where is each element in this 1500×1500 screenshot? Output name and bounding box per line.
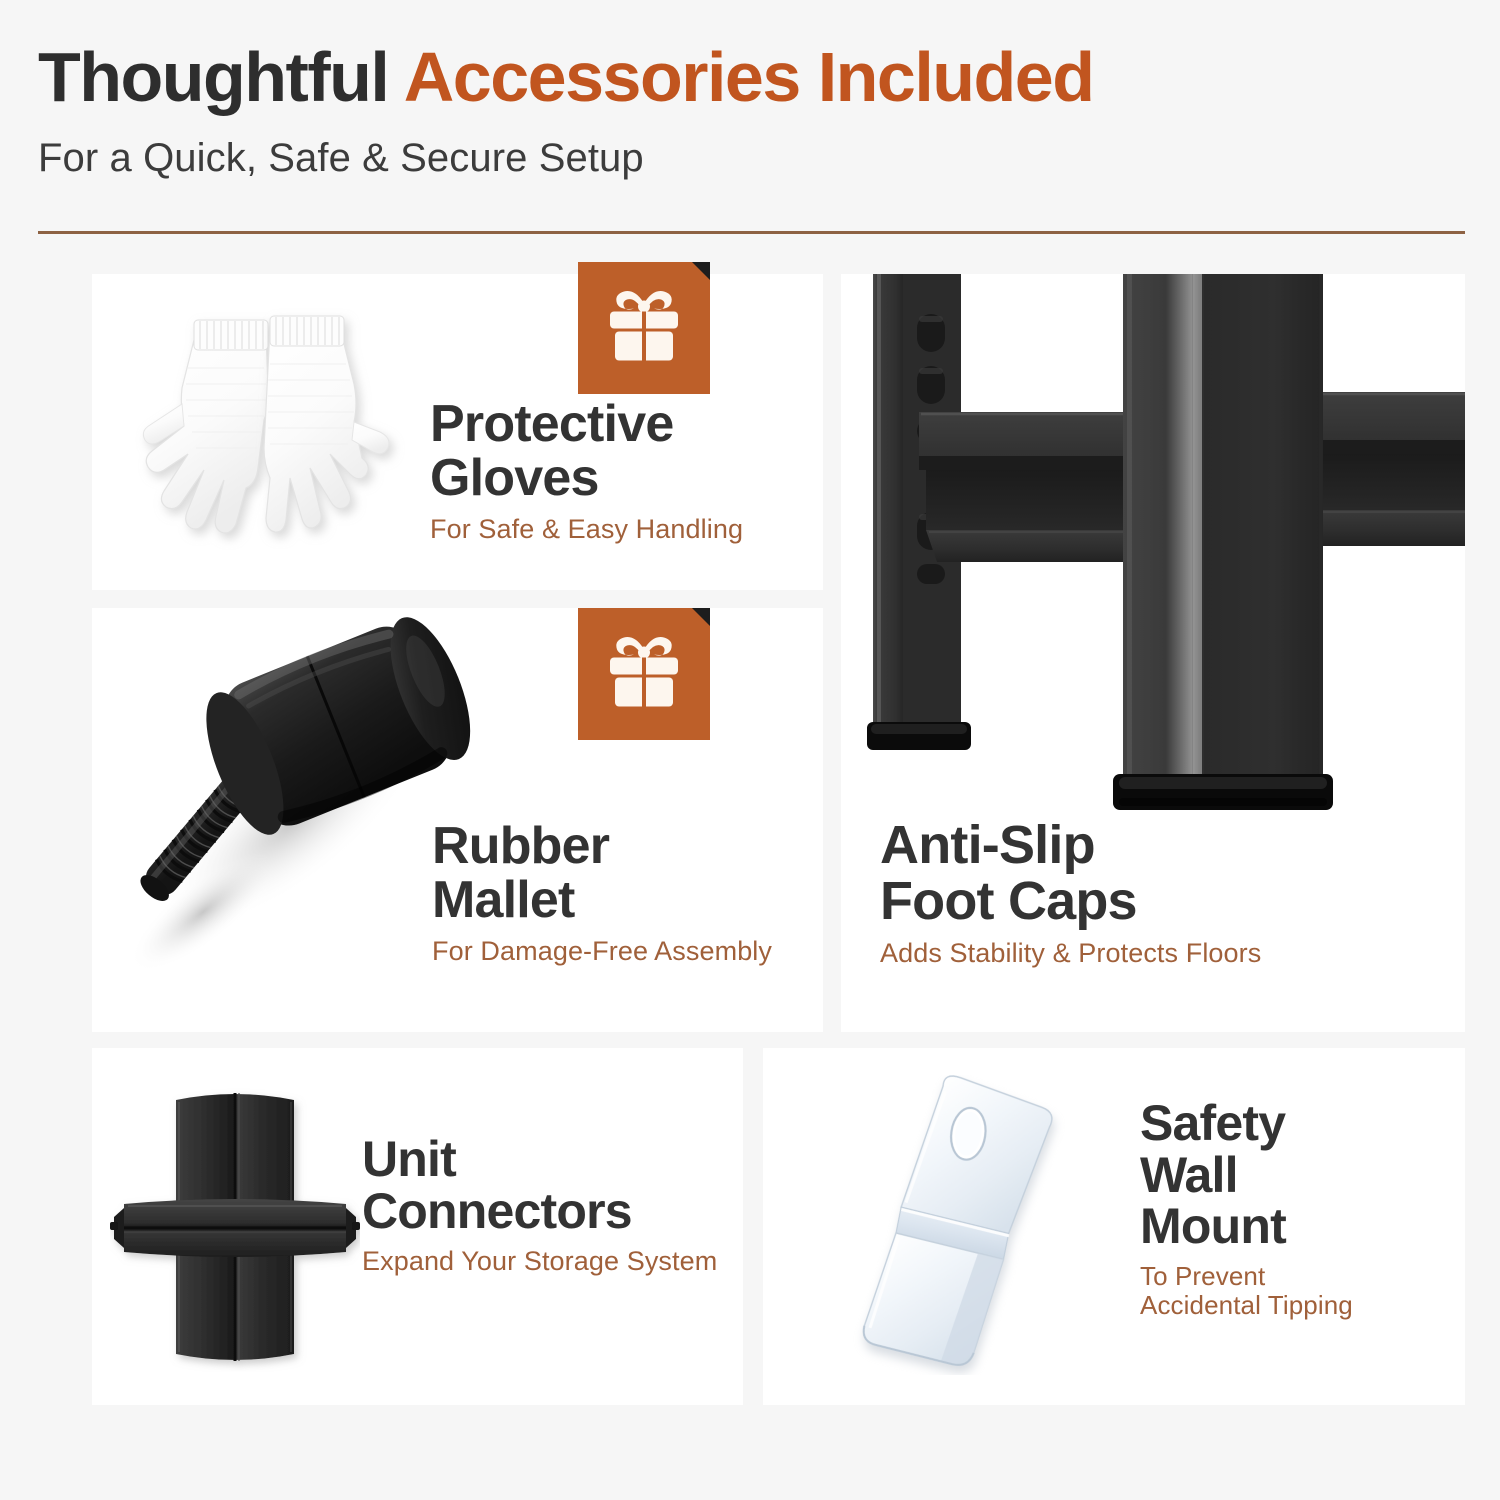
gift-box-icon <box>604 633 684 716</box>
safety-wall-mount-heading: Safety Wall Mount <box>1140 1098 1470 1253</box>
unit-connectors-heading: Unit Connectors <box>362 1134 742 1237</box>
infographic-page: Thoughtful Accessories Included For a Qu… <box>0 0 1500 1500</box>
header: Thoughtful Accessories Included For a Qu… <box>38 42 1462 178</box>
gift-box-icon <box>604 287 684 370</box>
protective-gloves-text: Protective Gloves For Safe & Easy Handli… <box>430 398 820 544</box>
page-subtitle: For a Quick, Safe & Secure Setup <box>38 138 1462 178</box>
badge-fold-corner <box>692 262 710 280</box>
unit-connectors-text: Unit Connectors Expand Your Storage Syst… <box>362 1134 742 1276</box>
page-title-primary: Thoughtful <box>38 38 404 116</box>
badge-fold-corner <box>692 608 710 626</box>
unit-connectors-caption: Expand Your Storage System <box>362 1246 742 1276</box>
rubber-mallet-text: Rubber Mallet For Damage-Free Assembly <box>432 820 822 966</box>
page-title-accent: Accessories Included <box>404 38 1094 116</box>
anti-slip-foot-caps-heading: Anti-Slip Foot Caps <box>880 818 1440 929</box>
safety-wall-mount-image <box>800 1075 1100 1375</box>
protective-gloves-image <box>118 288 418 578</box>
page-title: Thoughtful Accessories Included <box>38 42 1462 112</box>
gift-badge-mallet <box>578 608 710 740</box>
protective-gloves-caption: For Safe & Easy Handling <box>430 514 820 544</box>
anti-slip-foot-caps-caption: Adds Stability & Protects Floors <box>880 938 1440 968</box>
anti-slip-foot-caps-text: Anti-Slip Foot Caps Adds Stability & Pro… <box>880 818 1440 968</box>
safety-wall-mount-text: Safety Wall Mount To Prevent Accidental … <box>1140 1098 1470 1320</box>
rubber-mallet-caption: For Damage-Free Assembly <box>432 936 822 966</box>
safety-wall-mount-caption: To Prevent Accidental Tipping <box>1140 1262 1470 1320</box>
gift-badge-gloves <box>578 262 710 394</box>
header-divider <box>38 231 1465 234</box>
anti-slip-foot-caps-image <box>841 274 1465 814</box>
rubber-mallet-heading: Rubber Mallet <box>432 820 822 927</box>
protective-gloves-heading: Protective Gloves <box>430 398 820 505</box>
unit-connectors-image <box>110 1082 360 1372</box>
